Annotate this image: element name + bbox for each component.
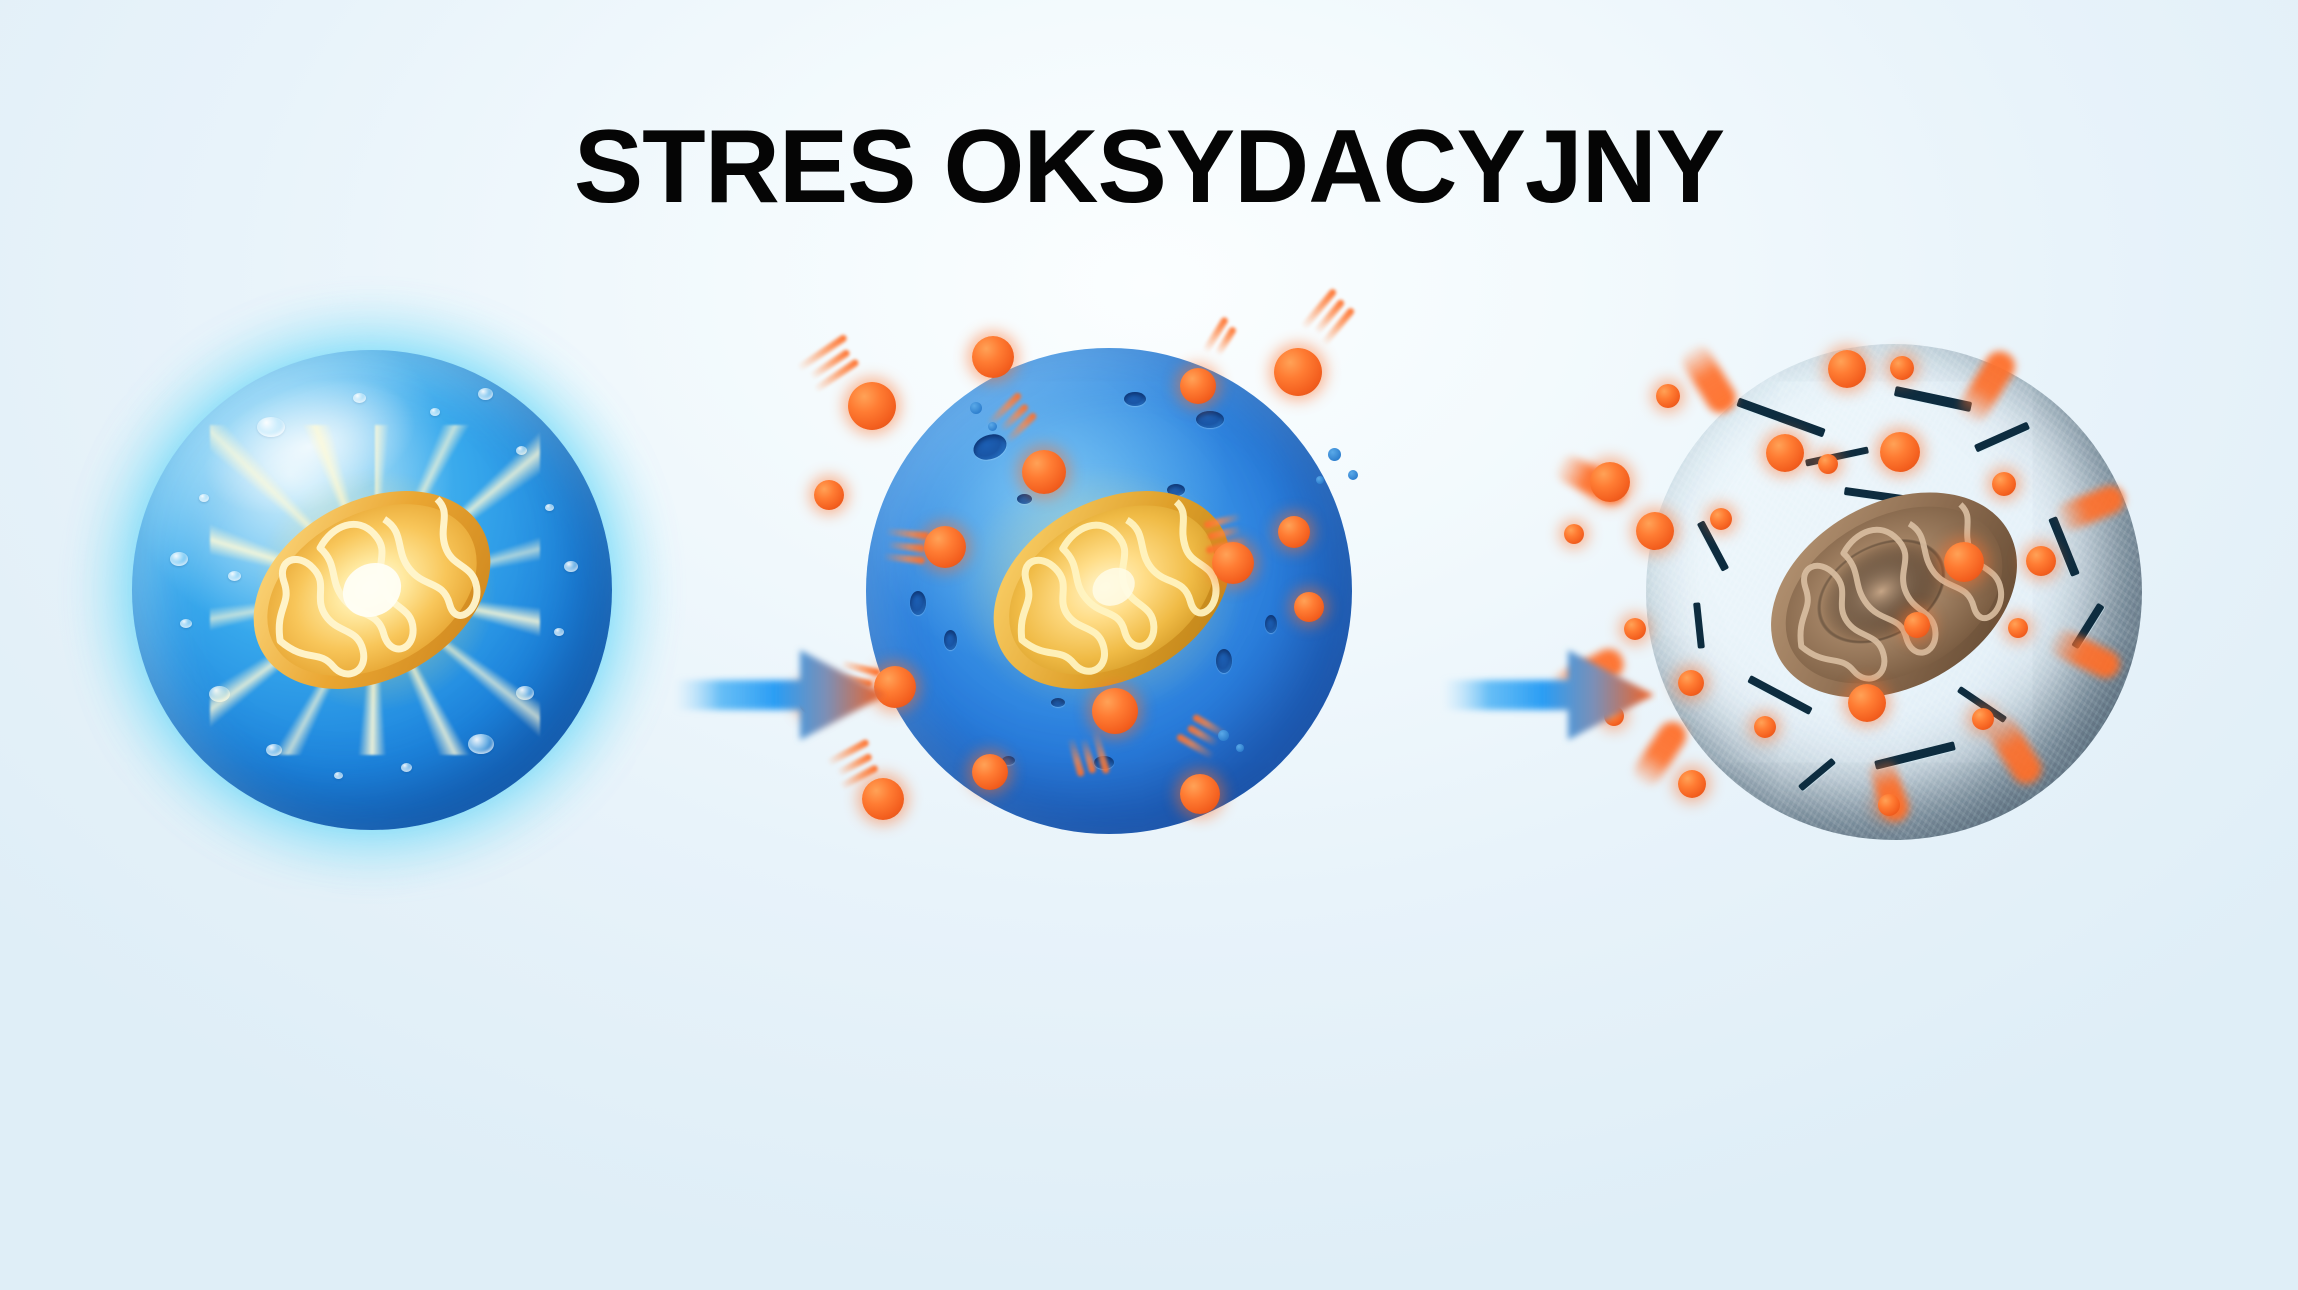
free-radical-particle [1878,794,1900,816]
membrane-pit [1265,615,1277,633]
water-droplet-icon [564,561,578,572]
free-radical-particle [1754,716,1776,738]
water-droplet-icon [430,408,440,416]
water-droplet-icon [257,417,285,437]
free-radical-particle [1656,384,1680,408]
free-radical-particle [1180,774,1220,814]
membrane-pit [1196,411,1224,428]
water-droplet-icon [554,628,564,636]
micro-particle [970,402,982,414]
water-droplet-icon [545,504,554,511]
micro-particle [1236,744,1244,752]
water-droplet-icon [199,494,209,502]
water-droplet-icon [266,744,282,756]
membrane-pit [910,591,926,615]
free-radical-particle [1766,434,1804,472]
free-radical-particle [1092,688,1138,734]
free-radical-particle [1278,516,1310,548]
free-radical-particle [1710,508,1732,530]
free-radical-particle [2008,618,2028,638]
free-radical-particle [848,382,896,430]
free-radical-particle [1992,472,2016,496]
free-radical-particle [972,336,1014,378]
free-radical-particle [1564,524,1584,544]
free-radical-particle [1180,368,1216,404]
panel-radical-attack: Atak wolnych rodników [800,330,1440,850]
water-droplet-icon [516,446,527,455]
micro-particle [1348,470,1358,480]
membrane-pit [1094,756,1114,769]
water-droplet-icon [180,619,192,628]
infographic-canvas: STRES OKSYDACYJNY [0,0,2298,1290]
water-droplet-icon [353,393,366,403]
water-droplet-icon [334,772,343,779]
free-radical-particle [1818,454,1838,474]
water-droplet-icon [516,686,534,700]
micro-particle [1328,448,1341,461]
water-droplet-icon [401,763,412,772]
free-radical-particle [924,526,966,568]
free-radical-particle [1636,512,1674,550]
micro-particle [988,422,997,431]
radical-streak [1677,340,1742,419]
free-radical-particle [1022,450,1066,494]
water-droplet-icon [170,552,188,566]
panel-oxidative-stress: Komórka ze stresem oksydacyjnym [1560,330,2240,850]
free-radical-particle [1274,348,1322,396]
free-radical-particle [862,778,904,820]
micro-particle [1218,730,1229,741]
free-radical-particle [1880,432,1920,472]
progression-arrow-icon [672,630,890,760]
free-radical-particle [1828,350,1866,388]
free-radical-particle [1678,770,1706,798]
free-radical-particle [1904,612,1930,638]
micro-particle [1316,476,1324,484]
free-radical-particle [1944,542,1984,582]
water-droplet-icon [468,734,494,754]
free-radical-particle [1294,592,1324,622]
membrane-pit [1124,392,1146,406]
free-radical-particle [814,480,844,510]
free-radical-particle [1848,684,1886,722]
free-radical-particle [1972,708,1994,730]
attacked-cell-illustration [800,330,1440,850]
water-droplet-icon [478,388,493,400]
progression-arrow-icon [1440,630,1658,760]
damaged-cell-illustration [1560,330,2240,850]
free-radical-particle [972,754,1008,790]
panel-healthy-cell: Zdrowa komórka [60,330,700,850]
page-title: STRES OKSYDACYJNY [0,108,2298,227]
water-droplet-icon [209,686,230,702]
free-radical-particle [1590,462,1630,502]
free-radical-particle [1678,670,1704,696]
free-radical-particle [2026,546,2056,576]
healthy-cell-illustration [60,330,700,850]
free-radical-particle [1890,356,1914,380]
free-radical-particle [1212,542,1254,584]
